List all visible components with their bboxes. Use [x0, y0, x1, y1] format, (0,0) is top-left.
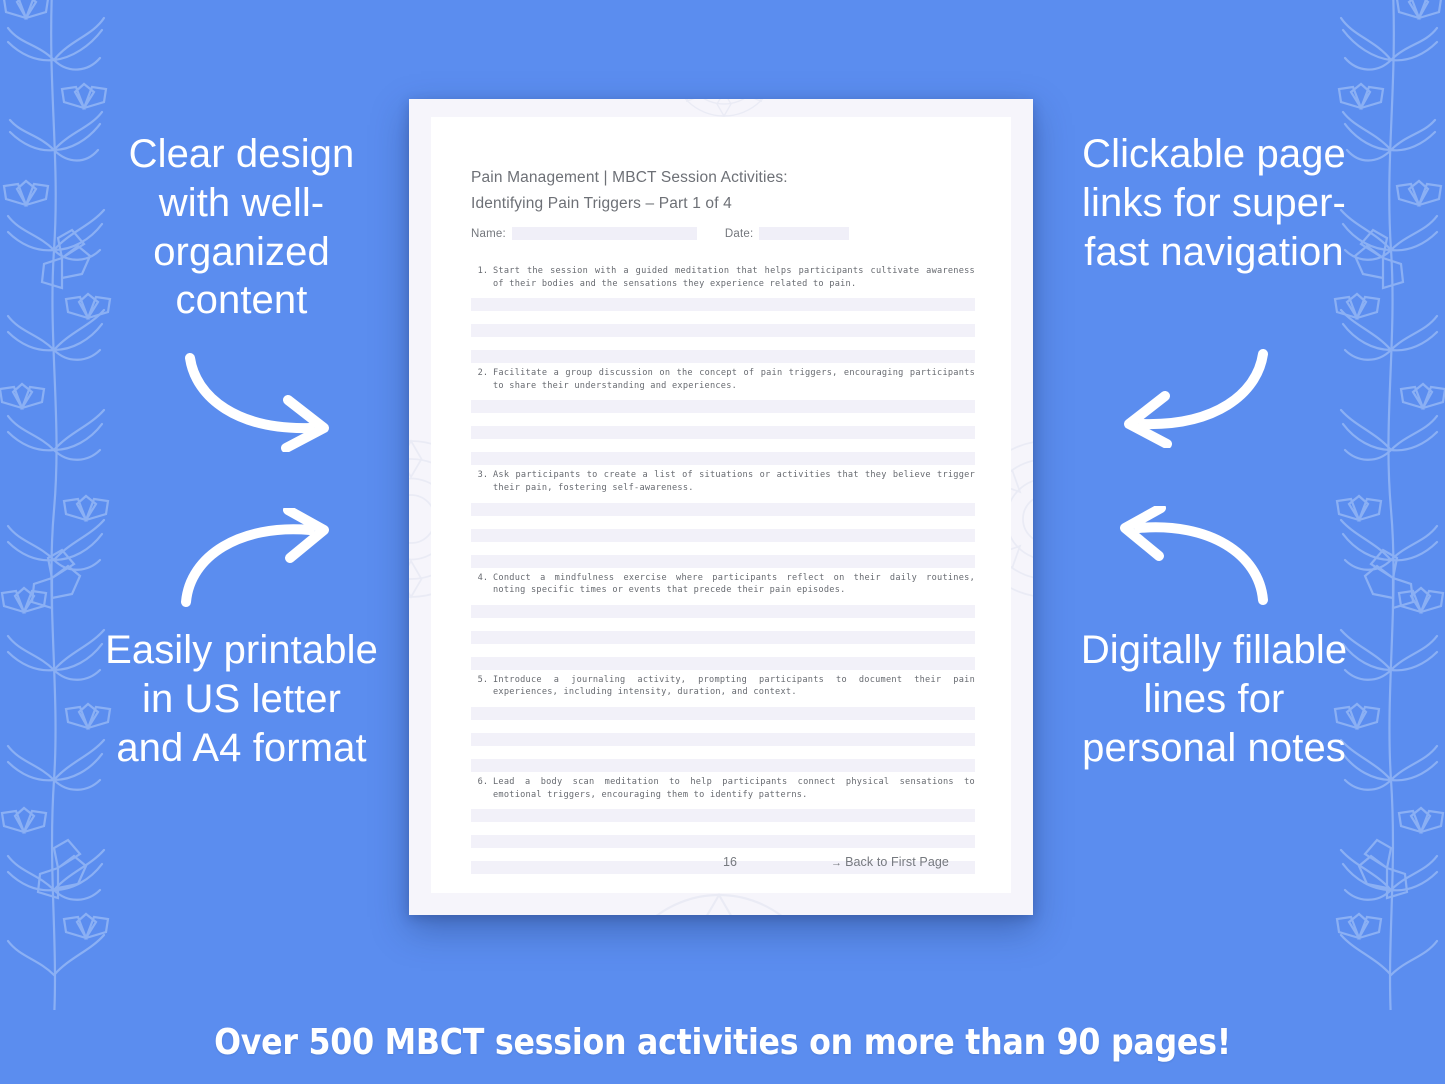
curved-arrow-right-icon — [178, 352, 353, 452]
activity-item-number: 2. — [471, 367, 493, 392]
fillable-line[interactable] — [471, 707, 975, 720]
worksheet-title-line1: Pain Management | MBCT Session Activitie… — [471, 165, 981, 191]
promo-text-easily-printable: Easily printable in US letter and A4 for… — [104, 626, 379, 772]
page-number: 16 — [723, 855, 737, 869]
activity-item-number: 1. — [471, 265, 493, 290]
back-to-first-page-link[interactable]: →Back to First Page — [831, 855, 949, 869]
activity-item-text: 1.Start the session with a guided medita… — [471, 265, 975, 290]
activity-item-number: 3. — [471, 469, 493, 494]
activity-item-text: 6.Lead a body scan meditation to help pa… — [471, 776, 975, 801]
activity-item-description: Lead a body scan meditation to help part… — [493, 776, 975, 801]
worksheet-title-line2: Identifying Pain Triggers – Part 1 of 4 — [471, 191, 981, 217]
activity-response-lines — [471, 605, 975, 670]
fillable-line[interactable] — [471, 324, 975, 337]
date-input[interactable] — [759, 227, 849, 240]
activity-item-description: Facilitate a group discussion on the con… — [493, 367, 975, 392]
fillable-line[interactable] — [471, 400, 975, 413]
name-date-row: Name: Date: — [471, 227, 981, 240]
fillable-line[interactable] — [471, 350, 975, 363]
fillable-line[interactable] — [471, 452, 975, 465]
activity-item-text: 2.Facilitate a group discussion on the c… — [471, 367, 975, 392]
date-label: Date: — [725, 228, 754, 240]
activity-item-description: Start the session with a guided meditati… — [493, 265, 975, 290]
fillable-line[interactable] — [471, 555, 975, 568]
fillable-line[interactable] — [471, 426, 975, 439]
worksheet-page: Pain Management | MBCT Session Activitie… — [409, 99, 1033, 915]
activity-item-text: 3.Ask participants to create a list of s… — [471, 469, 975, 494]
arrow-right-icon: → — [831, 857, 842, 869]
activity-list: 1.Start the session with a guided medita… — [471, 265, 975, 878]
activity-item-description: Ask participants to create a list of sit… — [493, 469, 975, 494]
worksheet-footer: 16 →Back to First Page — [511, 855, 949, 869]
activity-item-number: 6. — [471, 776, 493, 801]
fillable-line[interactable] — [471, 529, 975, 542]
fillable-line[interactable] — [471, 605, 975, 618]
fillable-line[interactable] — [471, 733, 975, 746]
activity-item-text: 4.Conduct a mindfulness exercise where p… — [471, 572, 975, 597]
fillable-line[interactable] — [471, 835, 975, 848]
fillable-line[interactable] — [471, 631, 975, 644]
activity-item-text: 5.Introduce a journaling activity, promp… — [471, 674, 975, 699]
floral-vine-left-icon — [0, 0, 114, 1010]
back-to-first-page-label: Back to First Page — [845, 855, 949, 869]
activity-item-number: 4. — [471, 572, 493, 597]
promo-text-clickable-links: Clickable page links for super-fast navi… — [1069, 130, 1359, 276]
activity-item: 1.Start the session with a guided medita… — [471, 265, 975, 363]
curved-arrow-left-icon — [1100, 348, 1275, 448]
name-input[interactable] — [512, 227, 697, 240]
fillable-line[interactable] — [471, 298, 975, 311]
fillable-line[interactable] — [471, 503, 975, 516]
bottom-banner: Over 500 MBCT session activities on more… — [87, 1000, 1359, 1084]
activity-response-lines — [471, 707, 975, 772]
activity-item: 5.Introduce a journaling activity, promp… — [471, 674, 975, 772]
curved-arrow-right-up-icon — [176, 508, 351, 608]
activity-item: 2.Facilitate a group discussion on the c… — [471, 367, 975, 465]
worksheet-content-area: Pain Management | MBCT Session Activitie… — [431, 117, 1011, 893]
fillable-line[interactable] — [471, 809, 975, 822]
activity-item: 4.Conduct a mindfulness exercise where p… — [471, 572, 975, 670]
worksheet-title: Pain Management | MBCT Session Activitie… — [471, 165, 981, 217]
promo-text-fillable-lines: Digitally fillable lines for personal no… — [1069, 626, 1359, 772]
activity-response-lines — [471, 298, 975, 363]
fillable-line[interactable] — [471, 657, 975, 670]
activity-item-number: 5. — [471, 674, 493, 699]
bottom-banner-text: Over 500 MBCT session activities on more… — [214, 1022, 1231, 1063]
name-label: Name: — [471, 228, 506, 240]
activity-response-lines — [471, 503, 975, 568]
activity-item-description: Introduce a journaling activity, prompti… — [493, 674, 975, 699]
activity-response-lines — [471, 400, 975, 465]
curved-arrow-left-up-icon — [1098, 506, 1273, 606]
activity-item-description: Conduct a mindfulness exercise where par… — [493, 572, 975, 597]
activity-item: 3.Ask participants to create a list of s… — [471, 469, 975, 567]
fillable-line[interactable] — [471, 759, 975, 772]
promo-text-clear-design: Clear design with well-organized content — [104, 130, 379, 325]
